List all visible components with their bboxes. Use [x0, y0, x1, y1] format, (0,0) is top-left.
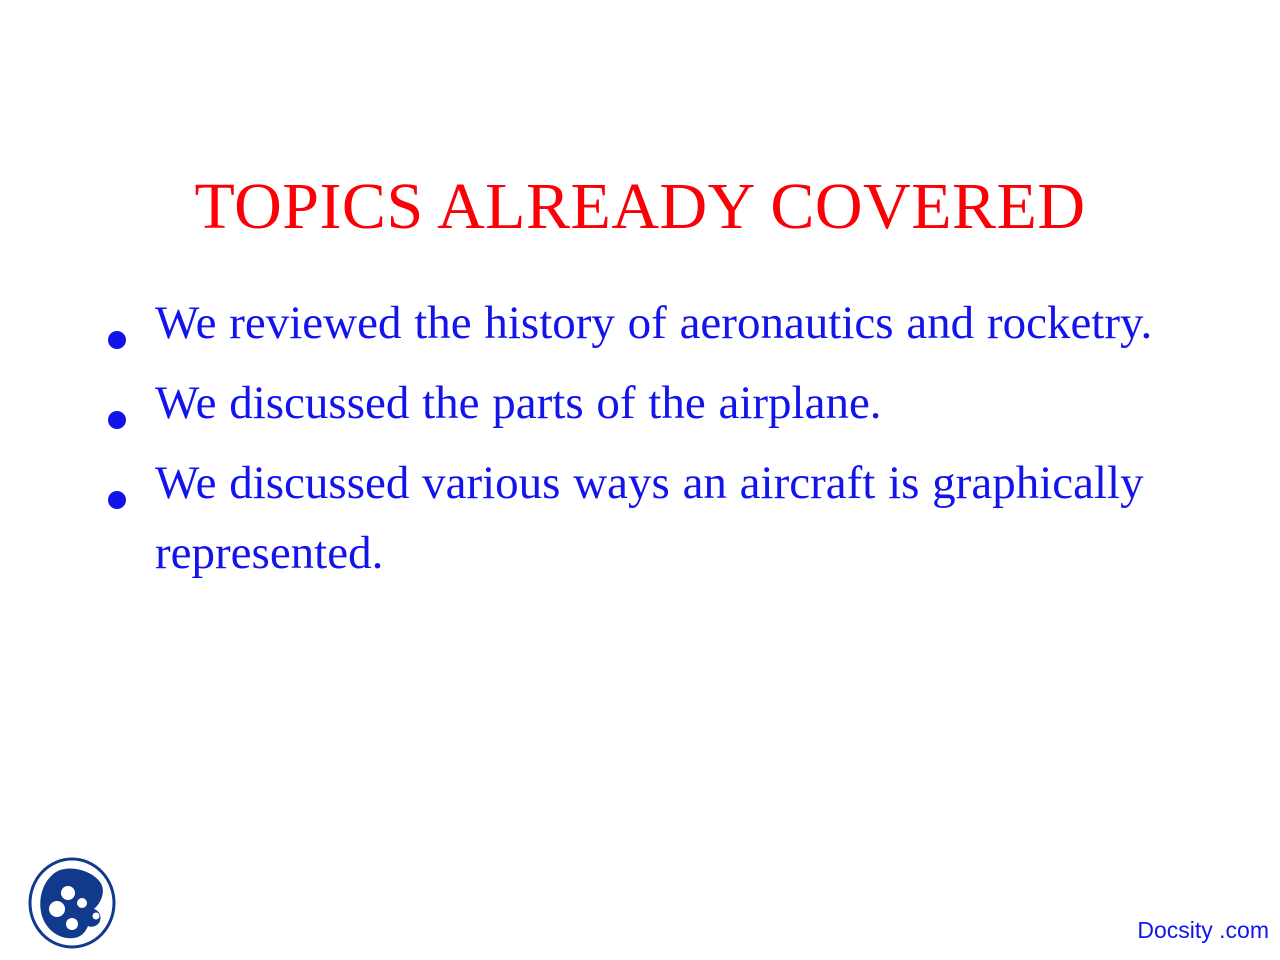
list-item-label: We discussed various ways an aircraft is…	[155, 448, 1195, 588]
slide-canvas: TOPICS ALREADY COVERED We reviewed the h…	[0, 0, 1280, 960]
bullet-dot-icon	[105, 288, 155, 358]
list-item: We discussed various ways an aircraft is…	[105, 448, 1195, 588]
list-item: We discussed the parts of the airplane.	[105, 368, 1195, 438]
docsity-brand-label: Docsity .com	[1137, 918, 1269, 943]
bullet-dot-icon	[105, 368, 155, 438]
list-item-label: We discussed the parts of the airplane.	[155, 368, 1195, 438]
page-title: TOPICS ALREADY COVERED	[60, 168, 1220, 246]
bullet-dot-icon	[105, 448, 155, 518]
bullet-list: We reviewed the history of aeronautics a…	[105, 288, 1195, 598]
list-item: We reviewed the history of aeronautics a…	[105, 288, 1195, 358]
docsity-logo-icon	[26, 856, 118, 950]
list-item-label: We reviewed the history of aeronautics a…	[155, 288, 1195, 358]
